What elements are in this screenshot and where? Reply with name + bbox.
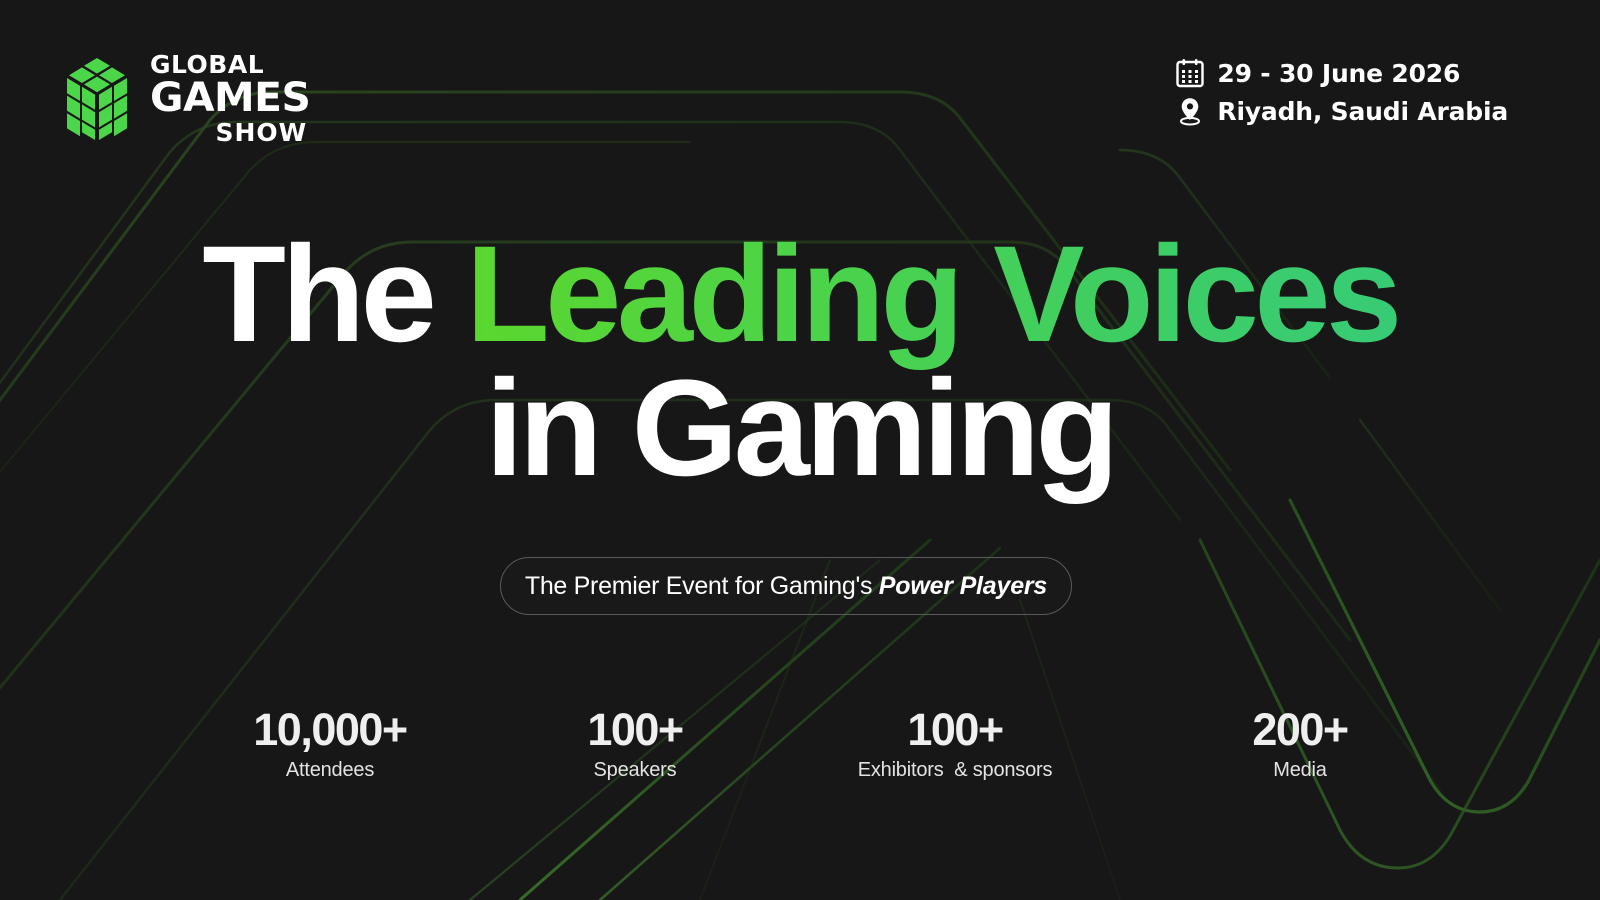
stat-speakers: 100+ Speakers	[510, 706, 760, 782]
page-title: The Leading Voices in Gaming	[0, 228, 1600, 497]
stat-label: Speakers	[510, 759, 760, 782]
subtitle-prefix: The Premier Event for Gaming's	[525, 572, 879, 600]
brand-wordmark: GLOBAL GAMES SHOW	[150, 52, 307, 145]
location-pin-icon	[1176, 96, 1204, 126]
event-meta: 29 - 30 June 2026 Riyadh, Saudi Arabia	[1176, 58, 1508, 126]
stat-value: 10,000+	[150, 706, 510, 753]
calendar-icon	[1176, 58, 1204, 88]
stat-label: Exhibitors & sponsors	[760, 759, 1150, 782]
stat-media: 200+ Media	[1150, 706, 1450, 782]
stat-attendees: 10,000+ Attendees	[150, 706, 510, 782]
event-date-text: 29 - 30 June 2026	[1217, 59, 1460, 88]
stat-exhibitors: 100+ Exhibitors & sponsors	[760, 706, 1150, 782]
stat-value: 200+	[1150, 706, 1450, 753]
headline-line-2: in Gaming	[0, 362, 1600, 496]
wordmark-global: GLOBAL	[150, 52, 307, 77]
wordmark-games: GAMES	[150, 78, 310, 118]
subtitle-badge: The Premier Event for Gaming's Power Pla…	[500, 557, 1072, 615]
headline-line-1: The Leading Voices	[0, 228, 1600, 362]
hero-banner: GLOBAL GAMES SHOW	[0, 0, 1600, 900]
stat-label: Media	[1150, 759, 1450, 782]
headline-plain: The	[202, 218, 466, 371]
stat-value: 100+	[760, 706, 1150, 753]
subtitle-text: The Premier Event for Gaming's Power Pla…	[525, 572, 1047, 601]
stat-value: 100+	[510, 706, 760, 753]
cube-logo-icon	[58, 56, 136, 142]
subtitle-emphasis: Power Players	[879, 572, 1047, 600]
brand-logo[interactable]: GLOBAL GAMES SHOW	[58, 52, 307, 145]
wordmark-show: SHOW	[150, 120, 307, 145]
event-location-row: Riyadh, Saudi Arabia	[1176, 96, 1508, 126]
stat-label: Attendees	[150, 759, 510, 782]
headline-accent: Leading Voices	[466, 218, 1398, 371]
event-location-text: Riyadh, Saudi Arabia	[1217, 97, 1508, 126]
event-date-row: 29 - 30 June 2026	[1176, 58, 1460, 88]
stats-row: 10,000+ Attendees 100+ Speakers 100+ Exh…	[150, 706, 1450, 782]
